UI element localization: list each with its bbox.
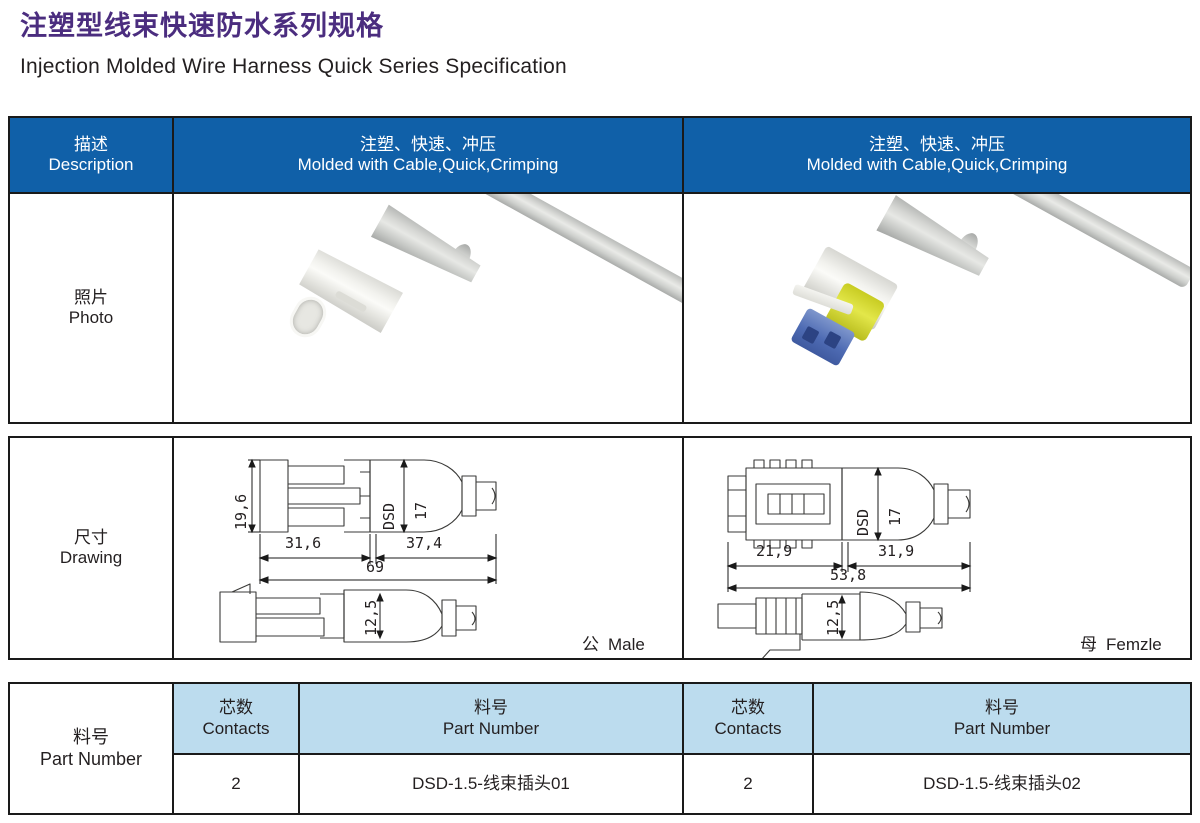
male-connector-photo (174, 194, 682, 422)
header-col1-cn: 注塑、快速、冲压 (360, 135, 496, 155)
header-partnumber-2: 料号 Part Number (814, 684, 1190, 753)
dim-female-marking: DSD (854, 509, 872, 536)
dim-female-side-height: 12,5 (824, 600, 842, 636)
dim-female-body-dia: 17 (886, 508, 904, 526)
female-gender-label: 母Femzle (1080, 630, 1162, 655)
cell-partnumber-1: DSD-1.5-线束插头01 (300, 755, 682, 813)
row-label-photo-cn: 照片 (74, 288, 108, 308)
female-gender-cn: 母 (1080, 635, 1097, 654)
cell-contacts-2: 2 (684, 755, 812, 813)
dim-male-rear-length: 37,4 (406, 534, 442, 552)
header-cell-col-2: 注塑、快速、冲压 Molded with Cable,Quick,Crimpin… (684, 118, 1190, 192)
header-pn-1-cn: 料号 (474, 698, 508, 718)
partnumber-2-value: DSD-1.5-线束插头02 (923, 774, 1081, 794)
header-col2-en: Molded with Cable,Quick,Crimping (807, 155, 1068, 175)
cable-male (469, 194, 682, 316)
header-contacts-1-en: Contacts (202, 719, 269, 739)
dim-male-marking: DSD (380, 503, 398, 530)
male-gender-cn: 公 (582, 635, 599, 654)
female-connector-photo (684, 194, 1190, 422)
header-contacts-2: 芯数 Contacts (684, 684, 812, 753)
female-gender-en: Femzle (1106, 635, 1162, 654)
header-pn-2-en: Part Number (954, 719, 1050, 739)
row-label-drawing-cn: 尺寸 (74, 528, 108, 548)
row-label-drawing-en: Drawing (60, 548, 122, 568)
male-gender-label: 公Male (582, 630, 645, 655)
row-label-part-number: 料号 Part Number (10, 684, 172, 813)
dim-male-front-length: 31,6 (285, 534, 321, 552)
row-label-photo: 照片 Photo (10, 194, 172, 422)
dim-male-body-dia: 17 (412, 502, 430, 520)
partnumber-1-value: DSD-1.5-线束插头01 (412, 774, 570, 794)
dim-male-total-length: 69 (366, 558, 384, 576)
part-number-table: 料号 Part Number 芯数 Contacts 料号 Part Numbe… (8, 682, 1192, 815)
header-partnumber-1: 料号 Part Number (300, 684, 682, 753)
header-contacts-2-en: Contacts (714, 719, 781, 739)
dim-male-side-height: 12,5 (362, 600, 380, 636)
row-label-photo-en: Photo (69, 308, 113, 328)
female-drawing: DSD 17 21,9 31,9 53,8 12,5 母Femzle (684, 438, 1190, 658)
contacts-2-value: 2 (743, 774, 752, 794)
cable-female (975, 194, 1190, 289)
row-label-drawing: 尺寸 Drawing (10, 438, 172, 658)
header-col2-cn: 注塑、快速、冲压 (869, 135, 1005, 155)
header-description-en: Description (48, 155, 133, 175)
row-label-pn-cn: 料号 (73, 727, 109, 748)
male-drawing: 19,6 DSD 17 31,6 37,4 69 12,5 公Male (174, 438, 682, 658)
dim-male-height: 19,6 (232, 494, 250, 530)
header-col1-en: Molded with Cable,Quick,Crimping (298, 155, 559, 175)
dim-female-total-length: 53,8 (830, 566, 866, 584)
dim-female-rear-length: 31,9 (878, 542, 914, 560)
page-title-en: Injection Molded Wire Harness Quick Seri… (20, 56, 567, 77)
header-contacts-1: 芯数 Contacts (174, 684, 298, 753)
drawing-table: 尺寸 Drawing (8, 436, 1192, 660)
description-photo-table: 描述 Description 注塑、快速、冲压 Molded with Cabl… (8, 116, 1192, 424)
row-label-pn-en: Part Number (40, 749, 142, 770)
page-title-cn: 注塑型线束快速防水系列规格 (20, 13, 384, 40)
header-pn-2-cn: 料号 (985, 698, 1019, 718)
header-contacts-1-cn: 芯数 (219, 698, 253, 718)
dim-female-front-length: 21,9 (756, 542, 792, 560)
header-pn-1-en: Part Number (443, 719, 539, 739)
header-cell-col-1: 注塑、快速、冲压 Molded with Cable,Quick,Crimpin… (174, 118, 682, 192)
header-contacts-2-cn: 芯数 (731, 698, 765, 718)
header-cell-description: 描述 Description (10, 118, 172, 192)
cell-partnumber-2: DSD-1.5-线束插头02 (814, 755, 1190, 813)
header-description-cn: 描述 (74, 135, 108, 155)
cell-contacts-1: 2 (174, 755, 298, 813)
male-gender-en: Male (608, 635, 645, 654)
contacts-1-value: 2 (231, 774, 240, 794)
